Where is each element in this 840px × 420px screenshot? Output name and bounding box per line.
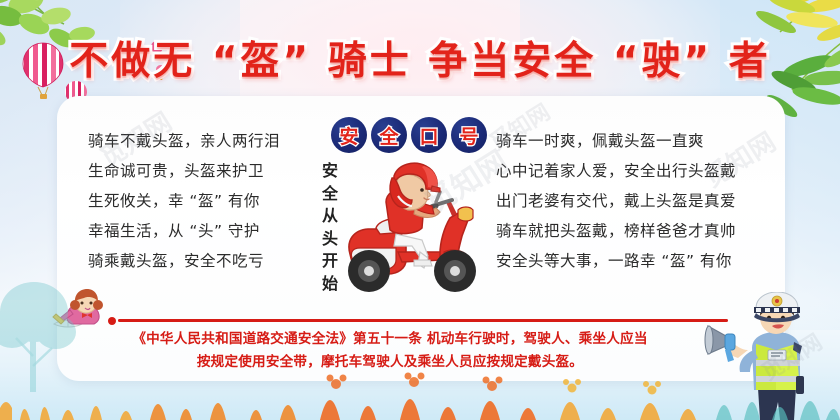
badge-circle: 安 [331, 117, 367, 153]
slogan-line: 生命诚可贵，头盔来护卫 [88, 156, 280, 186]
slogan-line: 骑车就把头盔戴，榜样爸爸才真帅 [496, 216, 736, 246]
grass-flower-band-icon [0, 368, 840, 420]
slogan-line: 生死攸关，幸 “盔” 有你 [88, 186, 280, 216]
badge-circle: 全 [371, 117, 407, 153]
red-divider [118, 319, 728, 322]
poster-canvas: 不做无 “盔” 骑士 争当安全 “驶” 者 骑车不戴头盔，亲人两行泪 生命诚可贵… [0, 0, 840, 420]
slogan-column-left: 骑车不戴头盔，亲人两行泪 生命诚可贵，头盔来护卫 生死攸关，幸 “盔” 有你 幸… [88, 126, 280, 276]
law-line: 《中华人民共和国道路交通安全法》第五十一条 机动车行驶时，驾驶人、乘坐人应当 [60, 328, 720, 351]
poster-title: 不做无 “盔” 骑士 争当安全 “驶” 者 [0, 30, 840, 86]
slogan-line: 幸福生活，从 “头” 守护 [88, 216, 280, 246]
badge-circle: 号 [451, 117, 487, 153]
slogan-line: 骑车一时爽，佩戴头盔一直爽 [496, 126, 736, 156]
slogan-column-right: 骑车一时爽，佩戴头盔一直爽 心中记着家人爱，安全出行头盔戴 出门老婆有交代，戴上… [496, 126, 736, 276]
badge-circle: 口 [411, 117, 447, 153]
slogan-line: 心中记着家人爱，安全出行头盔戴 [496, 156, 736, 186]
slogan-line: 安全头等大事，一路幸 “盔” 有你 [496, 246, 736, 276]
safety-slogan-badge: 安 全 口 号 [331, 117, 487, 153]
scooter-rider-icon [336, 156, 486, 296]
slogan-line: 出门老婆有交代，戴上头盔是真爱 [496, 186, 736, 216]
slogan-line: 骑车不戴头盔，亲人两行泪 [88, 126, 280, 156]
